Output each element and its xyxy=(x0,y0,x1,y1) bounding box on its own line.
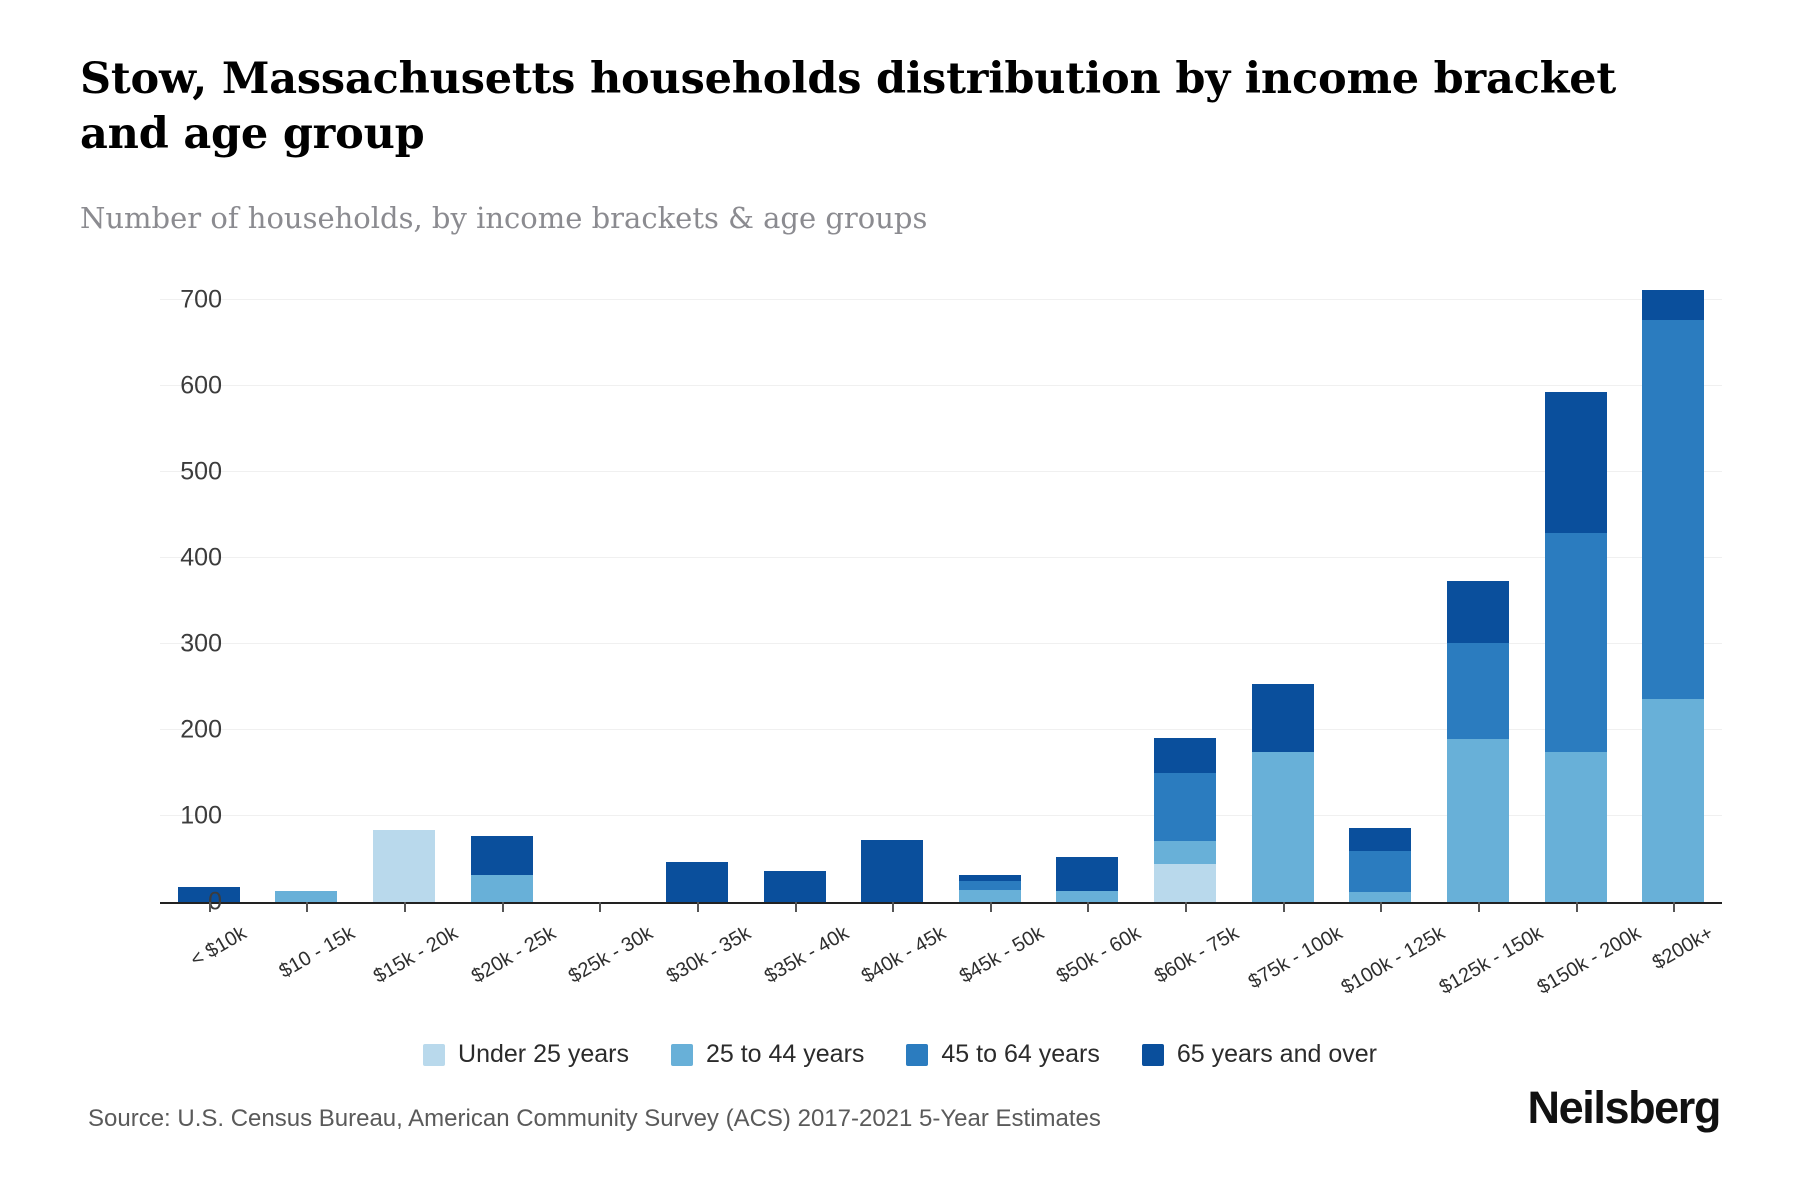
x-axis-label: $60k - 75k xyxy=(1151,922,1243,989)
x-axis-label: $20k - 25k xyxy=(468,922,560,989)
bar-segment[interactable] xyxy=(1447,739,1509,902)
y-axis-tick-label: 200 xyxy=(102,716,222,745)
legend-item[interactable]: Under 25 years xyxy=(423,1040,629,1069)
bar-group[interactable] xyxy=(746,300,844,902)
legend-label: 25 to 44 years xyxy=(706,1040,864,1069)
bar-group[interactable] xyxy=(1624,300,1722,902)
stacked-bar[interactable] xyxy=(1056,857,1118,902)
brand-logo: Neilsberg xyxy=(1528,1082,1720,1134)
stacked-bar[interactable] xyxy=(861,840,923,902)
stacked-bar[interactable] xyxy=(1154,738,1216,902)
bar-segment[interactable] xyxy=(1642,290,1704,320)
bar-group[interactable] xyxy=(355,300,453,902)
stacked-bar[interactable] xyxy=(1545,392,1607,902)
bar-group[interactable] xyxy=(648,300,746,902)
bar-segment[interactable] xyxy=(1545,533,1607,751)
bar-segment[interactable] xyxy=(1545,752,1607,903)
stacked-bar[interactable] xyxy=(373,830,435,902)
x-axis-labels: < $10k$10 - 15k$15k - 20k$20k - 25k$25k … xyxy=(160,916,1722,1026)
y-axis-tick-label: 100 xyxy=(102,802,222,831)
bar-group[interactable] xyxy=(453,300,551,902)
x-axis-label-cell: $45k - 50k xyxy=(941,916,1039,1026)
x-axis-label: $35k - 40k xyxy=(760,922,852,989)
bar-segment[interactable] xyxy=(1056,857,1118,891)
x-axis-tickmark xyxy=(697,902,699,912)
y-axis-tick-label: 500 xyxy=(102,458,222,487)
x-axis-label-cell: $150k - 200k xyxy=(1527,916,1625,1026)
x-axis-tickmark xyxy=(892,902,894,912)
x-axis-label: $10 - 15k xyxy=(276,922,360,984)
stacked-bar[interactable] xyxy=(959,875,1021,902)
bar-group[interactable] xyxy=(1527,300,1625,902)
stacked-bar[interactable] xyxy=(275,891,337,902)
x-axis-tickmark xyxy=(1185,902,1187,912)
x-axis-tickmark xyxy=(502,902,504,912)
stacked-bar[interactable] xyxy=(1642,290,1704,902)
x-axis-tickmark xyxy=(306,902,308,912)
bar-segment[interactable] xyxy=(1447,643,1509,738)
legend-item[interactable]: 65 years and over xyxy=(1142,1040,1377,1069)
bar-segment[interactable] xyxy=(275,891,337,902)
x-axis-label-cell: $25k - 30k xyxy=(551,916,649,1026)
x-axis-label: $45k - 50k xyxy=(956,922,1048,989)
legend-item[interactable]: 45 to 64 years xyxy=(906,1040,1099,1069)
bar-segment[interactable] xyxy=(666,862,728,902)
x-axis-label-cell: $40k - 45k xyxy=(843,916,941,1026)
x-axis-label-cell: $60k - 75k xyxy=(1136,916,1234,1026)
y-axis-tick-label: 600 xyxy=(102,372,222,401)
x-axis-tickmark xyxy=(599,902,601,912)
x-axis-label: $200k+ xyxy=(1649,922,1718,975)
bar-group[interactable] xyxy=(258,300,356,902)
x-axis-label: $40k - 45k xyxy=(858,922,950,989)
bar-segment[interactable] xyxy=(1349,851,1411,891)
x-axis-label-cell: $20k - 25k xyxy=(453,916,551,1026)
x-axis-tickmark xyxy=(795,902,797,912)
x-axis-label-cell: $75k - 100k xyxy=(1234,916,1332,1026)
source-note: Source: U.S. Census Bureau, American Com… xyxy=(88,1105,1101,1133)
bar-segment[interactable] xyxy=(1642,320,1704,699)
x-axis-tickmark xyxy=(1478,902,1480,912)
chart-page: Stow, Massachusetts households distribut… xyxy=(0,0,1800,1200)
stacked-bar[interactable] xyxy=(1252,684,1314,902)
x-axis-label-cell: $35k - 40k xyxy=(746,916,844,1026)
x-axis-label: $50k - 60k xyxy=(1053,922,1145,989)
bar-segment[interactable] xyxy=(1349,828,1411,851)
bar-group[interactable] xyxy=(1039,300,1137,902)
x-axis-label: $30k - 35k xyxy=(663,922,755,989)
legend-swatch xyxy=(906,1044,928,1066)
x-axis-tickmark xyxy=(209,902,211,912)
bar-segment[interactable] xyxy=(1154,738,1216,773)
x-axis-label-cell: $100k - 125k xyxy=(1332,916,1430,1026)
bar-segment[interactable] xyxy=(1154,773,1216,841)
legend-swatch xyxy=(423,1044,445,1066)
y-axis-tick-label: 700 xyxy=(102,286,222,315)
x-axis-tickmarks xyxy=(160,902,1722,914)
bar-segment[interactable] xyxy=(1545,392,1607,533)
x-axis-label-cell: $50k - 60k xyxy=(1039,916,1137,1026)
x-axis-tickmark xyxy=(990,902,992,912)
x-axis-tickmark xyxy=(1673,902,1675,912)
bar-segment[interactable] xyxy=(1154,864,1216,902)
x-axis-label-cell: $30k - 35k xyxy=(648,916,746,1026)
legend-label: 45 to 64 years xyxy=(941,1040,1099,1069)
stacked-bar[interactable] xyxy=(1349,828,1411,902)
x-axis-tickmark xyxy=(1087,902,1089,912)
bar-segment[interactable] xyxy=(471,836,533,876)
bar-series-container xyxy=(160,300,1722,902)
x-axis-label: $15k - 20k xyxy=(370,922,462,989)
bar-group[interactable] xyxy=(1332,300,1430,902)
bar-segment[interactable] xyxy=(764,871,826,902)
legend-swatch xyxy=(1142,1044,1164,1066)
x-axis-label-cell: < $10k xyxy=(160,916,258,1026)
x-axis-tickmark xyxy=(1283,902,1285,912)
bar-segment[interactable] xyxy=(1349,892,1411,902)
bar-group[interactable] xyxy=(941,300,1039,902)
bar-group[interactable] xyxy=(1234,300,1332,902)
stacked-bar[interactable] xyxy=(471,836,533,902)
x-axis-label-cell: $10 - 15k xyxy=(258,916,356,1026)
plot-area xyxy=(160,300,1722,902)
bar-group[interactable] xyxy=(843,300,941,902)
y-axis-tick-label: 400 xyxy=(102,544,222,573)
bar-segment[interactable] xyxy=(373,830,435,902)
y-axis-tick-label: 300 xyxy=(102,630,222,659)
bar-segment[interactable] xyxy=(959,890,1021,902)
x-axis-label-cell: $200k+ xyxy=(1624,916,1722,1026)
legend-label: 65 years and over xyxy=(1177,1040,1377,1069)
legend-label: Under 25 years xyxy=(458,1040,629,1069)
bar-segment[interactable] xyxy=(1056,891,1118,902)
x-axis-tickmark xyxy=(404,902,406,912)
bar-group[interactable] xyxy=(551,300,649,902)
bar-segment[interactable] xyxy=(861,840,923,902)
x-axis-tickmark xyxy=(1380,902,1382,912)
x-axis-label-cell: $15k - 20k xyxy=(355,916,453,1026)
bar-segment[interactable] xyxy=(959,881,1021,890)
legend-item[interactable]: 25 to 44 years xyxy=(671,1040,864,1069)
page-subtitle: Number of households, by income brackets… xyxy=(80,200,1580,238)
legend-swatch xyxy=(671,1044,693,1066)
bar-segment[interactable] xyxy=(1642,699,1704,902)
bar-group[interactable] xyxy=(1136,300,1234,902)
stacked-bar[interactable] xyxy=(666,862,728,902)
x-axis-tickmark xyxy=(1576,902,1578,912)
page-title: Stow, Massachusetts households distribut… xyxy=(80,52,1700,162)
bar-segment[interactable] xyxy=(1447,581,1509,643)
bar-segment[interactable] xyxy=(1252,752,1314,902)
bar-segment[interactable] xyxy=(471,875,533,902)
x-axis-label: < $10k xyxy=(187,922,251,972)
x-axis-label-cell: $125k - 150k xyxy=(1429,916,1527,1026)
chart-legend: Under 25 years25 to 44 years45 to 64 yea… xyxy=(0,1040,1800,1069)
stacked-bar[interactable] xyxy=(1447,581,1509,902)
x-axis-label: $25k - 30k xyxy=(565,922,657,989)
bar-group[interactable] xyxy=(1429,300,1527,902)
bar-segment[interactable] xyxy=(1154,841,1216,864)
bar-segment[interactable] xyxy=(1252,684,1314,752)
stacked-bar[interactable] xyxy=(764,871,826,902)
